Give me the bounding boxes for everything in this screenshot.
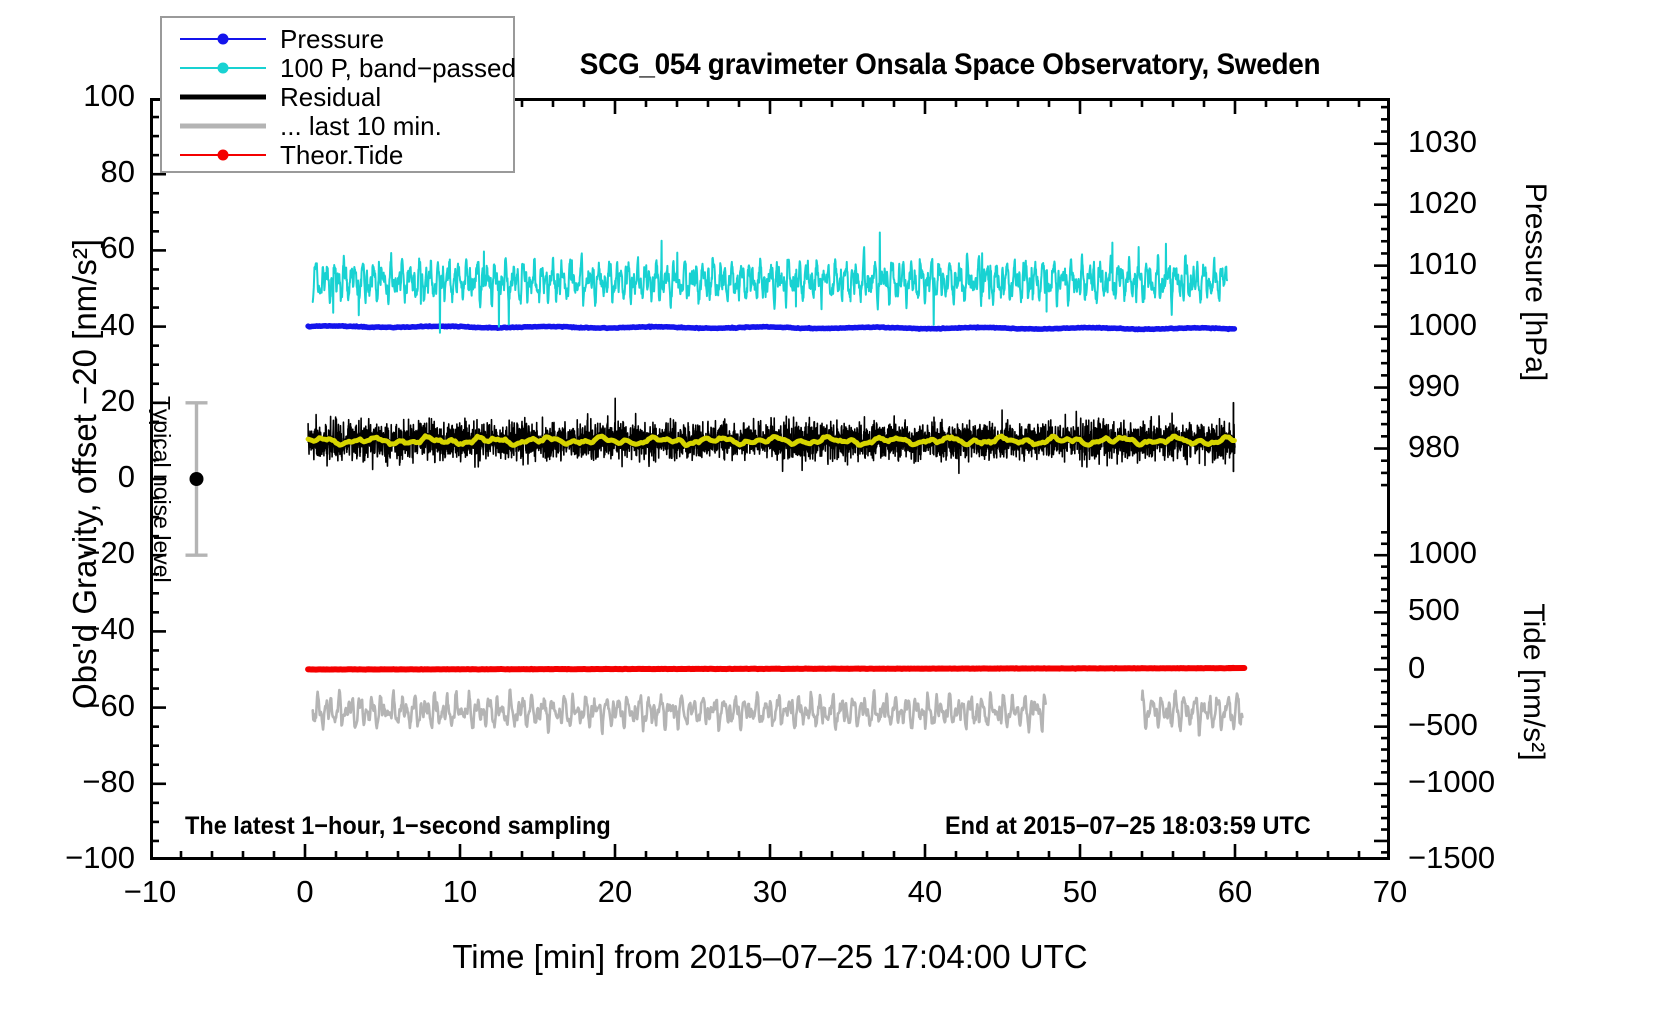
legend-item-label: 100 P, band−passed	[280, 55, 516, 81]
chart-root: SCG_054 gravimeter Onsala Space Observat…	[0, 0, 1660, 1020]
axis-tick-label: 980	[1408, 429, 1548, 465]
axis-tick-label: −1500	[1408, 840, 1548, 876]
legend: Pressure100 P, band−passedResidual... la…	[160, 16, 515, 173]
legend-item-label: Residual	[280, 84, 381, 110]
legend-item: 100 P, band−passed	[162, 53, 513, 82]
axis-tick-label: 1020	[1408, 185, 1548, 221]
axis-tick-label: −60	[15, 688, 135, 724]
axis-tick-label: 0	[245, 874, 365, 910]
axis-tick-label: 0	[15, 459, 135, 495]
axis-tick-label: 30	[710, 874, 830, 910]
annotation-end-time: End at 2015−07−25 18:03:59 UTC	[945, 812, 1311, 841]
legend-item: Pressure	[162, 24, 513, 53]
plot-canvas	[150, 98, 1390, 860]
axis-tick-label: −40	[15, 611, 135, 647]
legend-item-label: ... last 10 min.	[280, 113, 442, 139]
axis-tick-label: −100	[15, 840, 135, 876]
axis-tick-label: 70	[1330, 874, 1450, 910]
axis-tick-label: −20	[15, 535, 135, 571]
axis-tick-label: 1030	[1408, 124, 1548, 160]
axis-tick-label: 990	[1408, 368, 1548, 404]
legend-swatch-2	[176, 53, 270, 82]
legend-marker-dot	[218, 149, 229, 160]
axis-tick-label: 40	[15, 307, 135, 343]
legend-swatch-4	[176, 111, 270, 140]
legend-marker-dot	[218, 33, 229, 44]
axis-tick-label: 500	[1408, 592, 1548, 628]
noise-level-label: Typical noise level	[148, 396, 175, 586]
page-title: SCG_054 gravimeter Onsala Space Observat…	[550, 48, 1350, 82]
axis-tick-label: 1000	[1408, 307, 1548, 343]
annotation-sampling: The latest 1−hour, 1−second sampling	[185, 812, 611, 841]
axis-tick-label: 80	[15, 154, 135, 190]
noise-level-errorbar	[186, 403, 208, 555]
axis-tick-label: −1000	[1408, 764, 1548, 800]
legend-item-label: Theor.Tide	[280, 142, 403, 168]
legend-swatch-5	[176, 140, 270, 169]
axis-tick-label: 1000	[1408, 535, 1548, 571]
axis-tick-label: −10	[90, 874, 210, 910]
axis-tick-label: 40	[865, 874, 985, 910]
axis-tick-label: 1010	[1408, 246, 1548, 282]
axis-tick-label: 20	[15, 383, 135, 419]
axis-tick-label: 60	[1175, 874, 1295, 910]
axis-tick-label: −80	[15, 764, 135, 800]
axis-tick-label: 60	[15, 230, 135, 266]
legend-item-label: Pressure	[280, 26, 384, 52]
axis-tick-label: 100	[15, 78, 135, 114]
x-axis-title: Time [min] from 2015–07–25 17:04:00 UTC	[150, 938, 1390, 976]
axis-tick-label: 0	[1408, 650, 1548, 686]
axis-tick-label: 50	[1020, 874, 1140, 910]
legend-item: Residual	[162, 82, 513, 111]
axis-tick-label: −500	[1408, 707, 1548, 743]
axis-tick-label: 10	[400, 874, 520, 910]
legend-marker-dot	[218, 62, 229, 73]
legend-item: ... last 10 min.	[162, 111, 513, 140]
legend-swatch-1	[176, 24, 270, 53]
legend-swatch-3	[176, 82, 270, 111]
legend-line	[180, 123, 266, 128]
legend-item: Theor.Tide	[162, 140, 513, 169]
axis-tick-label: 20	[555, 874, 675, 910]
legend-line	[180, 94, 266, 99]
